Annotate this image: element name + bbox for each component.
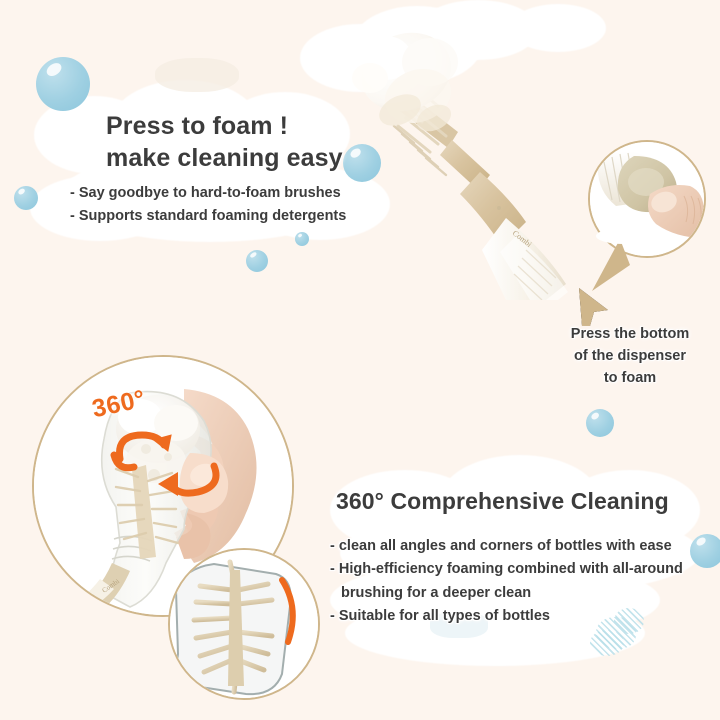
callout-tail-mask [596,228,652,244]
bullet-item: - Suitable for all types of bottles [330,605,683,628]
photo-circle-bristle-corner-inset [168,548,320,700]
product-photo-bottle-brush: Combi [330,0,610,300]
bullet-item: - Supports standard foaming detergents [70,205,346,228]
callout-caption: Press the bottom of the dispenser to foa… [540,324,720,389]
bubble-decoration [295,232,309,246]
bubble-decoration [690,534,720,568]
bubble-decoration [36,57,90,111]
bullet-item: - clean all angles and corners of bottle… [330,535,683,558]
bubble-decoration [586,409,614,437]
bullet-item: brushing for a deeper clean [330,582,683,605]
up-arrow-icon [574,284,614,328]
bullet-item: - High-efficiency foaming combined with … [330,558,683,581]
bubble-decoration [246,250,268,272]
hatched-cloud-shape [590,630,624,656]
soft-blob-shape [155,58,239,92]
bullet-item: - Say goodbye to hard-to-foam brushes [70,182,346,205]
bottom-headline: 360° Comprehensive Cleaning [336,487,716,516]
top-bullet-list: - Say goodbye to hard-to-foam brushes - … [70,182,346,229]
rotation-arrow-bottom-icon [152,452,224,500]
bubble-decoration [14,186,38,210]
bottom-bullet-list: - clean all angles and corners of bottle… [330,535,683,629]
product-feature-infographic: Press to foam ! make cleaning easy - Say… [0,0,720,720]
